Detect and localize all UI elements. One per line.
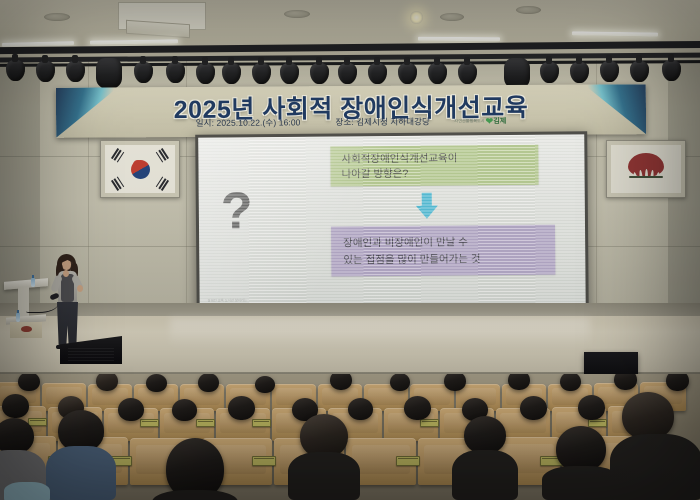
audience-head [330, 374, 352, 390]
audience-head [146, 374, 167, 392]
audience-shoulders [152, 490, 238, 500]
audience-head [520, 396, 547, 420]
projection-screen-frame: ? 사회적장애인식개선교육이 나아갈 방향은? 장애인과 비장애인이 만날 수 … [195, 131, 589, 319]
audience-head [0, 418, 34, 454]
leaf-icon: ❤ [486, 116, 494, 127]
audience-shoulders [288, 452, 360, 500]
audience-shoulders [542, 466, 620, 500]
moving-head-light [96, 58, 122, 88]
projection-screen: ? 사회적장애인식개선교육이 나아갈 방향은? 장애인과 비장애인이 만날 수 … [198, 134, 586, 316]
arrow-stem [422, 193, 432, 207]
audience-head [2, 394, 29, 418]
purple-box-line1: 장애인과 비장애인이 만날 수 [343, 236, 468, 249]
trigram-ri [111, 176, 125, 191]
audience-head [118, 398, 144, 421]
audience-head [172, 399, 197, 421]
floor-speaker [584, 352, 638, 376]
city-logo-name: 김제 [493, 116, 506, 126]
banner-date: 일시: 2025.10.22.(수) 16:00 [196, 116, 301, 129]
city-emblem-frame [606, 140, 686, 198]
audience-head [96, 374, 118, 391]
ceiling-downlight [410, 11, 423, 24]
seat-number-plate [252, 419, 271, 427]
arrow-head [416, 206, 438, 219]
seat-number-plate [28, 418, 47, 426]
audience-head [198, 374, 219, 392]
seat-number-plate [588, 419, 607, 427]
lectern-emblem [21, 326, 32, 332]
speaker-grill [68, 348, 114, 362]
city-logo-tagline: 자연선물행복도시 [454, 118, 484, 124]
presenter-legs [57, 302, 78, 347]
audience-head [666, 374, 689, 391]
audience-head [18, 374, 40, 391]
presenter-hand-right [77, 285, 83, 292]
stage-reflection [170, 318, 590, 348]
audience-head [508, 374, 530, 390]
trigram-gam [155, 148, 169, 163]
audience-head [578, 395, 605, 420]
presenter-hand-with-microphone [63, 270, 69, 277]
fluorescent-tube [418, 37, 500, 42]
audience-head [622, 392, 674, 440]
gimje-city-logo: 자연선물행복도시❤김제 [454, 116, 506, 127]
seat-number-plate [252, 456, 276, 466]
audience-head [228, 396, 255, 420]
korean-national-flag [105, 145, 175, 193]
ceiling-vent [440, 13, 464, 21]
microphone-stand [26, 288, 60, 318]
audience-shoulders [46, 446, 116, 500]
trigram-gon [155, 176, 169, 191]
audience-shoulders [4, 482, 50, 500]
audience-head [444, 374, 466, 391]
down-arrow-icon [416, 193, 438, 219]
audience-head [390, 374, 410, 391]
fluorescent-tube [90, 39, 178, 44]
audience-head [404, 396, 431, 420]
question-mark: ? [221, 185, 253, 237]
audience-head [348, 398, 373, 420]
city-emblem-flag [611, 145, 681, 193]
seat-number-plate [196, 419, 215, 427]
purple-box-line2: 있는 접점을 많이 만들어가는 것 [343, 253, 480, 266]
water-bottle [16, 313, 20, 322]
audience-head [560, 374, 581, 391]
seat-number-plate [396, 456, 420, 466]
audience-seating-area [0, 374, 700, 500]
mic-gooseneck [26, 298, 58, 313]
trigram-geon [111, 148, 125, 163]
seat-number-plate [140, 419, 159, 427]
korean-flag-frame [100, 140, 180, 198]
slide-green-box: 사회적장애인식개선교육이 나아갈 방향은? [330, 145, 538, 187]
green-box-line2: 나아갈 방향은? [342, 168, 409, 181]
banner-subtitle: 일시: 2025.10.22.(수) 16:00 장소: 김제시청 지하대강당 … [56, 114, 646, 130]
seat-number-plate [420, 419, 439, 427]
ceiling-vent [44, 13, 70, 21]
fluorescent-tube [572, 31, 658, 36]
audience-head [255, 376, 275, 393]
banner-place: 장소: 김제시청 지하대강당 [335, 116, 430, 129]
event-banner: 2025년 사회적 장애인식개선교육 일시: 2025.10.22.(수) 16… [56, 84, 646, 138]
lecture-hall-photo: 2025년 사회적 장애인식개선교육 일시: 2025.10.22.(수) 16… [0, 0, 700, 500]
taeguk-symbol [131, 160, 150, 179]
emblem-strokes [633, 168, 659, 181]
audience-head [464, 416, 506, 454]
ceiling-vent [284, 10, 310, 18]
audience-shoulders [610, 434, 700, 500]
ceiling-vent [516, 6, 541, 14]
purple-box-text: 장애인과 비장애인이 만날 수 있는 접점을 많이 만들어가는 것 [331, 225, 555, 270]
green-box-text: 사회적장애인식개선교육이 나아갈 방향은? [330, 145, 538, 183]
moving-head-light [504, 58, 530, 88]
audience-shoulders [452, 450, 518, 500]
green-box-line1: 사회적장애인식개선교육이 [341, 152, 457, 165]
slide-purple-box: 장애인과 비장애인이 만날 수 있는 접점을 많이 만들어가는 것 [331, 225, 555, 277]
water-bottle [31, 278, 35, 287]
presentation-slide: ? 사회적장애인식개선교육이 나아갈 방향은? 장애인과 비장애인이 만날 수 … [198, 134, 586, 316]
emblem-baseline [629, 176, 663, 178]
